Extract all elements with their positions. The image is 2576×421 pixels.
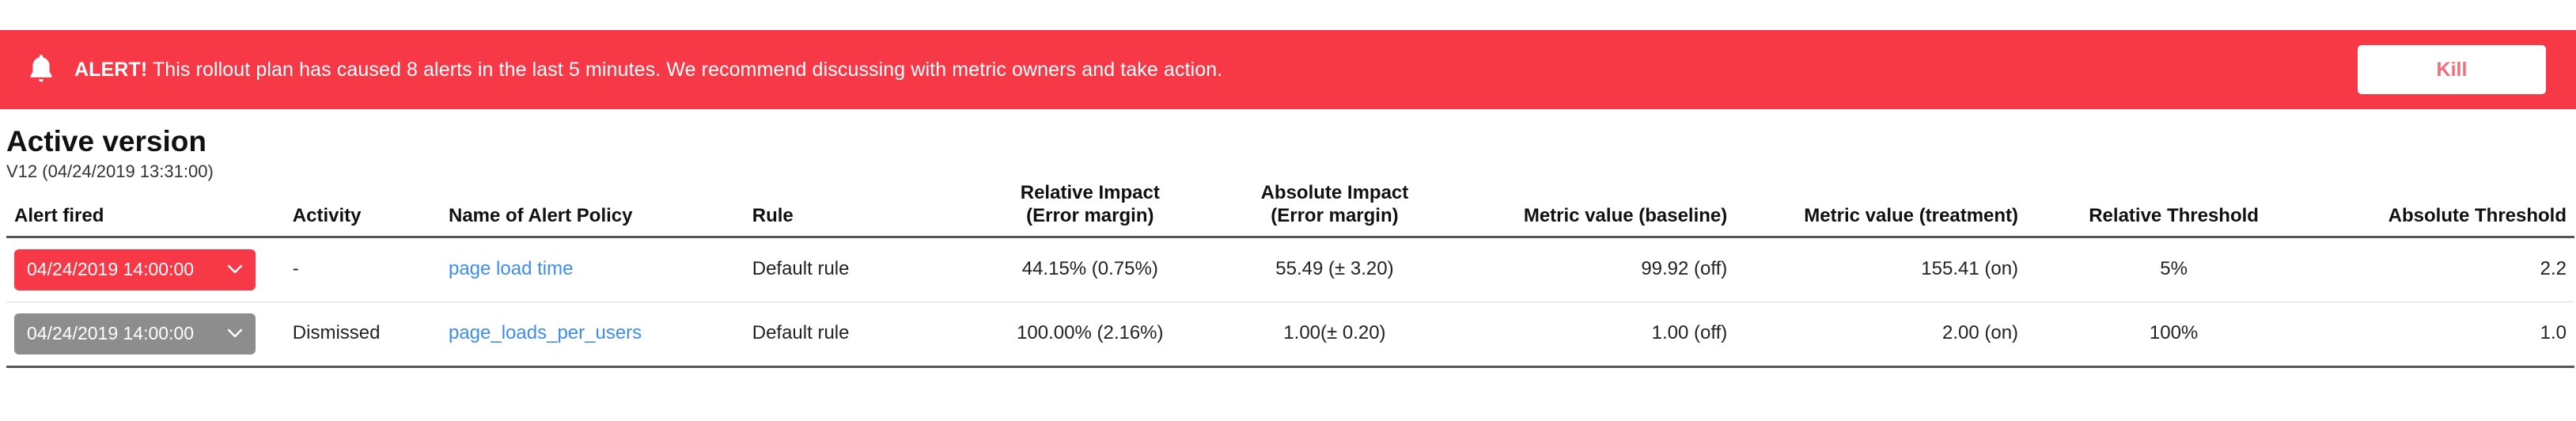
active-version-block: Active version V12 (04/24/2019 13:31:00) <box>0 109 2576 181</box>
column-header-absolute-impact[interactable]: Absolute Impact (Error margin) <box>1212 181 1457 237</box>
column-header-policy-name[interactable]: Name of Alert Policy <box>441 181 744 237</box>
column-header-metric-value-baseline[interactable]: Metric value (baseline) <box>1457 181 1736 237</box>
alert-banner: ALERT! This rollout plan has caused 8 al… <box>0 30 2576 109</box>
table-header: Alert fired Activity Name of Alert Polic… <box>6 181 2574 237</box>
column-header-relative-impact-line1: Relative Impact <box>975 181 1204 204</box>
alert-message: ALERT! This rollout plan has caused 8 al… <box>74 58 2358 82</box>
cell-relative-threshold: 5% <box>2026 237 2321 302</box>
page-title: Active version <box>6 127 2576 157</box>
cell-relative-impact: 44.15% (0.75%) <box>968 237 1212 302</box>
alert-fired-timestamp: 04/24/2019 14:00:00 <box>27 259 194 280</box>
table-body: 04/24/2019 14:00:00 - page load time De <box>6 237 2574 366</box>
column-header-absolute-impact-line1: Absolute Impact <box>1220 181 1449 204</box>
policy-name-link[interactable]: page_loads_per_users <box>449 322 642 343</box>
alert-message-body: This rollout plan has caused 8 alerts in… <box>147 59 1222 81</box>
chevron-down-icon <box>227 264 243 275</box>
column-header-absolute-impact-line2: (Error margin) <box>1220 204 1449 227</box>
cell-metric-value-treatment: 2.00 (on) <box>1735 302 2026 366</box>
cell-rule: Default rule <box>744 237 968 302</box>
cell-rule: Default rule <box>744 302 968 366</box>
alerts-page: ALERT! This rollout plan has caused 8 al… <box>0 0 2576 421</box>
version-subtitle: V12 (04/24/2019 13:31:00) <box>6 162 2576 181</box>
table-header-row: Alert fired Activity Name of Alert Polic… <box>6 181 2574 237</box>
cell-absolute-threshold: 1.0 <box>2321 302 2574 366</box>
content-area: Active version V12 (04/24/2019 13:31:00)… <box>0 109 2576 368</box>
alert-fired-timestamp: 04/24/2019 14:00:00 <box>27 323 194 344</box>
column-header-rule[interactable]: Rule <box>744 181 968 237</box>
kill-button[interactable]: Kill <box>2358 45 2546 94</box>
column-header-metric-value-treatment[interactable]: Metric value (treatment) <box>1735 181 2026 237</box>
column-header-activity[interactable]: Activity <box>285 181 441 237</box>
cell-absolute-threshold: 2.2 <box>2321 237 2574 302</box>
alert-fired-dropdown[interactable]: 04/24/2019 14:00:00 <box>14 249 256 290</box>
cell-metric-value-baseline: 99.92 (off) <box>1457 237 1736 302</box>
column-header-relative-impact-line2: (Error margin) <box>975 204 1204 227</box>
cell-metric-value-baseline: 1.00 (off) <box>1457 302 1736 366</box>
column-header-alert-fired[interactable]: Alert fired <box>6 181 285 237</box>
table-row: 04/24/2019 14:00:00 - page load time De <box>6 237 2574 302</box>
cell-metric-value-treatment: 155.41 (on) <box>1735 237 2026 302</box>
cell-relative-impact: 100.00% (2.16%) <box>968 302 1212 366</box>
cell-alert-fired: 04/24/2019 14:00:00 <box>6 237 285 302</box>
cell-alert-fired: 04/24/2019 14:00:00 <box>6 302 285 366</box>
column-header-relative-threshold[interactable]: Relative Threshold <box>2026 181 2321 237</box>
cell-activity: Dismissed <box>285 302 441 366</box>
alert-message-prefix: ALERT! <box>74 59 147 81</box>
column-header-absolute-threshold[interactable]: Absolute Threshold <box>2321 181 2574 237</box>
cell-absolute-impact: 55.49 (± 3.20) <box>1212 237 1457 302</box>
cell-activity: - <box>285 237 441 302</box>
alert-fired-dropdown[interactable]: 04/24/2019 14:00:00 <box>14 313 256 355</box>
column-header-relative-impact[interactable]: Relative Impact (Error margin) <box>968 181 1212 237</box>
cell-policy-name: page_loads_per_users <box>441 302 744 366</box>
cell-relative-threshold: 100% <box>2026 302 2321 366</box>
table-row: 04/24/2019 14:00:00 Dismissed page_loads… <box>6 302 2574 366</box>
policy-name-link[interactable]: page load time <box>449 258 573 279</box>
alerts-table: Alert fired Activity Name of Alert Polic… <box>6 181 2574 368</box>
cell-absolute-impact: 1.00(± 0.20) <box>1212 302 1457 366</box>
cell-policy-name: page load time <box>441 237 744 302</box>
bell-icon <box>24 49 59 90</box>
chevron-down-icon <box>227 328 243 339</box>
